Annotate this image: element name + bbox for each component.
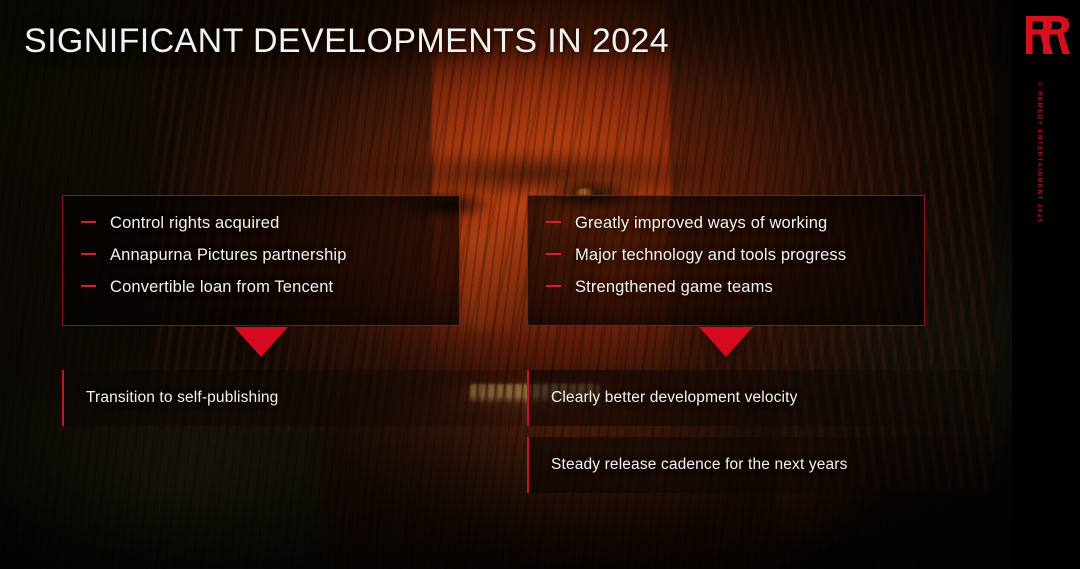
bullet-item: Control rights acquired [81,212,459,235]
dash-marker-icon [546,253,561,255]
conclusion-label: Steady release cadence for the next year… [529,456,848,474]
bullet-item: Strengthened game teams [546,276,924,299]
bullet-list-production: Greatly improved ways of working Major t… [528,196,924,298]
conclusion-bar-self-publishing: Transition to self-publishing [62,370,522,426]
slide-title: SIGNIFICANT DEVELOPMENTS IN 2024 [24,22,669,61]
bullet-panel-business: Control rights acquired Annapurna Pictur… [62,195,460,326]
brand-rail: ™ © REMEDY ENTERTAINMENT 2025 [1012,0,1080,569]
dash-marker-icon [546,221,561,223]
bullet-label: Major technology and tools progress [575,244,846,267]
dash-marker-icon [81,253,96,255]
dash-marker-icon [81,285,96,287]
conclusion-label: Clearly better development velocity [529,389,797,407]
conclusion-bar-cadence: Steady release cadence for the next year… [527,437,987,493]
remedy-logo-icon: ™ [1024,14,1070,56]
bullet-item: Major technology and tools progress [546,244,924,267]
conclusion-bar-velocity: Clearly better development velocity [527,370,987,426]
dash-marker-icon [546,285,561,287]
bullet-label: Control rights acquired [110,212,279,235]
bullet-list-business: Control rights acquired Annapurna Pictur… [63,196,459,298]
triangle-down-icon [234,327,288,357]
bullet-label: Strengthened game teams [575,276,773,299]
bullet-label: Annapurna Pictures partnership [110,244,347,267]
bullet-item: Greatly improved ways of working [546,212,924,235]
bullet-item: Convertible loan from Tencent [81,276,459,299]
bullet-panel-production: Greatly improved ways of working Major t… [527,195,925,326]
presentation-slide: SIGNIFICANT DEVELOPMENTS IN 2024 Control… [0,0,1080,569]
bullet-item: Annapurna Pictures partnership [81,244,459,267]
bullet-label: Greatly improved ways of working [575,212,827,235]
triangle-down-icon [699,327,753,357]
bullet-label: Convertible loan from Tencent [110,276,333,299]
dash-marker-icon [81,221,96,223]
svg-text:™: ™ [1066,17,1070,22]
conclusion-label: Transition to self-publishing [64,389,278,407]
copyright-text: © REMEDY ENTERTAINMENT 2025 [1036,82,1043,223]
